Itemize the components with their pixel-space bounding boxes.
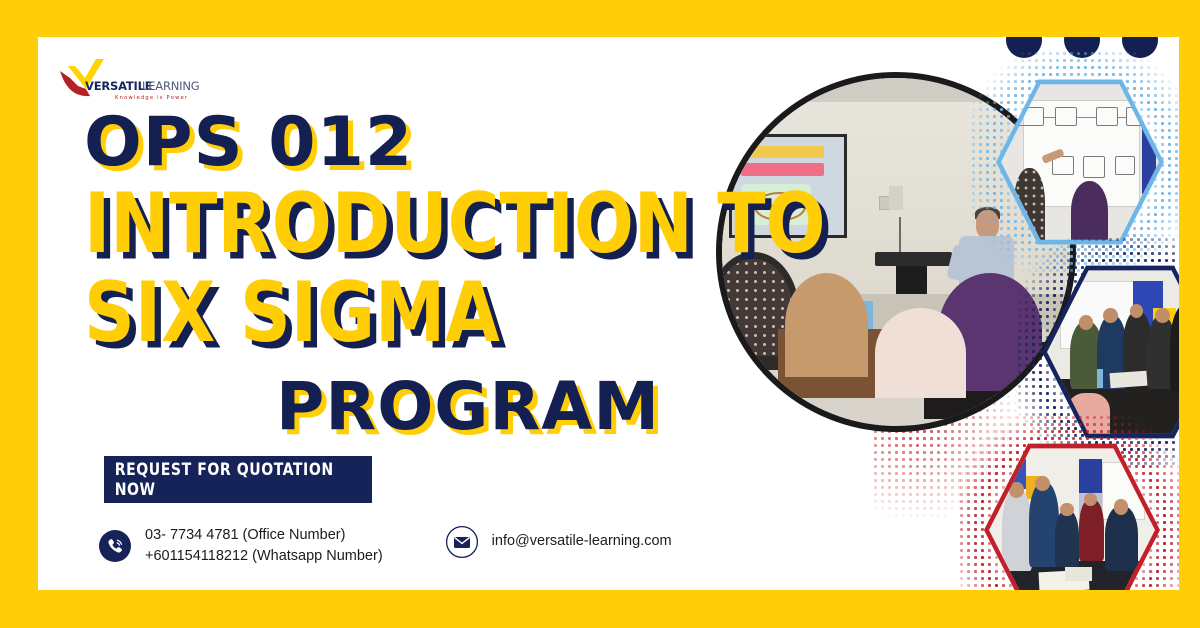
email-address: info@versatile-learning.com (492, 531, 672, 552)
course-code: OPS 012 (84, 110, 724, 175)
office-number: 03- 7734 4781 (Office Number) (145, 527, 345, 543)
svg-text:Knowledge is Power: Knowledge is Power (115, 95, 188, 101)
phone-numbers: 03- 7734 4781 (Office Number) +601154118… (145, 525, 383, 567)
phone-icon (98, 529, 132, 563)
versatile-learning-logo: VERSATILE LEARNING Knowledge is Power (56, 56, 206, 106)
hex-photo-document-review (984, 440, 1160, 590)
headline-block: OPS 012 INTRODUCTION TO SIX SIGMA PROGRA… (84, 110, 724, 439)
request-quotation-button[interactable]: REQUEST FOR QUOTATION NOW (104, 456, 372, 503)
content-column: VERSATILE LEARNING Knowledge is Power OP… (38, 37, 698, 590)
whatsapp-number: +601154118212 (Whatsapp Number) (145, 548, 383, 564)
headline-line-1: INTRODUCTION TO (84, 185, 762, 265)
phone-contact[interactable]: 03- 7734 4781 (Office Number) +601154118… (98, 525, 383, 567)
headline-line-2: SIX SIGMA (84, 274, 762, 354)
hex-photo-whiteboard (996, 76, 1164, 248)
request-quotation-label: REQUEST FOR QUOTATION NOW (115, 460, 362, 500)
headline-line-3: PROGRAM (276, 375, 724, 438)
contact-row: 03- 7734 4781 (Office Number) +601154118… (98, 525, 688, 567)
banner-card: VERSATILE LEARNING Knowledge is Power OP… (38, 37, 1179, 590)
email-contact[interactable]: info@versatile-learning.com (445, 525, 672, 559)
promo-banner: VERSATILE LEARNING Knowledge is Power OP… (0, 0, 1200, 628)
svg-text:LEARNING: LEARNING (142, 79, 199, 93)
envelope-icon (445, 525, 479, 559)
